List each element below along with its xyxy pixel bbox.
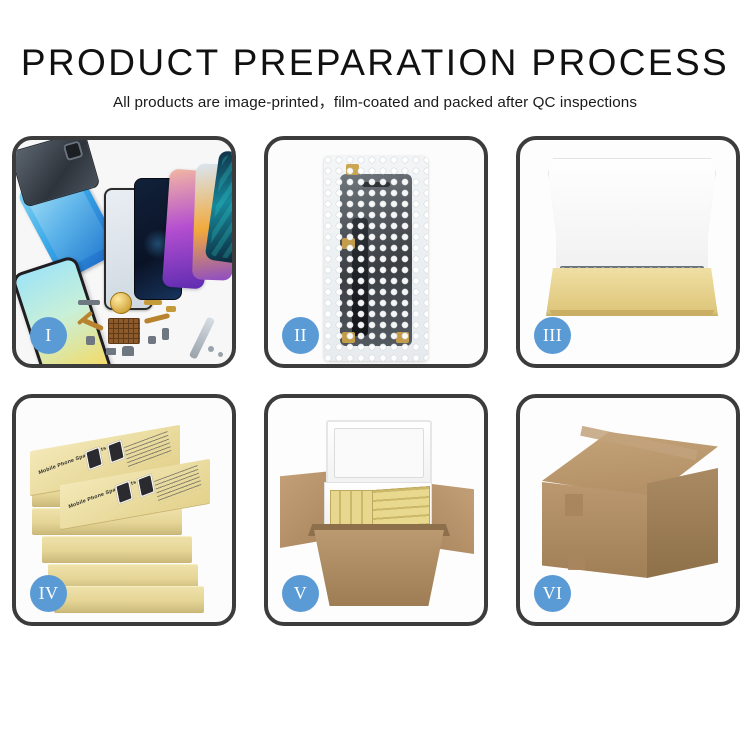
- step-panel-1[interactable]: I: [12, 136, 236, 368]
- camera-module-icon: [122, 346, 134, 356]
- bubble-wrap-bag: [324, 156, 428, 361]
- battery-icon: [106, 348, 116, 355]
- step-badge-3: III: [534, 317, 571, 354]
- gold-connector-icon: [144, 300, 162, 305]
- screw-icon: [218, 352, 223, 357]
- gold-connector-icon: [166, 306, 176, 312]
- logic-board-icon: [108, 318, 140, 344]
- box-spec-lines: [154, 465, 202, 504]
- steps-row-1: I II: [12, 136, 740, 368]
- foreground-phone-icon: [12, 255, 113, 368]
- box-window-icon: [136, 473, 156, 499]
- steps-row-2: Mobile Phone Spare Parts Mobile Phone Sp…: [12, 394, 740, 626]
- step-panel-3[interactable]: III: [516, 136, 740, 368]
- process-steps-grid: I II: [12, 136, 740, 626]
- screwdriver-icon: [189, 316, 215, 359]
- chip-icon: [148, 336, 156, 344]
- foam-box-lid: [326, 420, 432, 488]
- chip-icon: [86, 336, 95, 345]
- box-front-edge: [546, 310, 718, 316]
- carton-side-face: [647, 468, 718, 578]
- step-badge-4: IV: [30, 575, 67, 612]
- stacked-box: [42, 536, 192, 562]
- box-spec-lines: [124, 431, 172, 470]
- step-badge-5: V: [282, 575, 319, 612]
- bubble-texture: [324, 156, 428, 361]
- carton-label-patch: [565, 494, 583, 516]
- step-badge-6: VI: [534, 575, 571, 612]
- carton-body: [314, 530, 444, 606]
- step-panel-5[interactable]: V: [264, 394, 488, 626]
- step-panel-6[interactable]: VI: [516, 394, 740, 626]
- screw-icon: [208, 346, 214, 352]
- carton-front-face: [542, 482, 648, 578]
- flex-cable-icon: [144, 313, 170, 324]
- chip-icon: [162, 328, 169, 340]
- step-badge-1: I: [30, 317, 67, 354]
- box-window-icon: [106, 439, 126, 465]
- header: PRODUCT PREPARATION PROCESS All products…: [0, 0, 750, 110]
- step-panel-4[interactable]: Mobile Phone Spare Parts Mobile Phone Sp…: [12, 394, 236, 626]
- carton-label-patch: [568, 554, 585, 570]
- page-subtitle: All products are image-printed，film-coat…: [0, 95, 750, 110]
- page-title: PRODUCT PREPARATION PROCESS: [0, 44, 750, 81]
- white-foam-sheet: [556, 192, 708, 276]
- product-preparation-infographic: PRODUCT PREPARATION PROCESS All products…: [0, 0, 750, 750]
- stacked-box: [54, 586, 204, 612]
- chip-icon: [78, 300, 100, 305]
- step-badge-2: II: [282, 317, 319, 354]
- speaker-module-icon: [110, 292, 132, 314]
- step-panel-2[interactable]: II: [264, 136, 488, 368]
- yellow-box-tray: [546, 268, 718, 316]
